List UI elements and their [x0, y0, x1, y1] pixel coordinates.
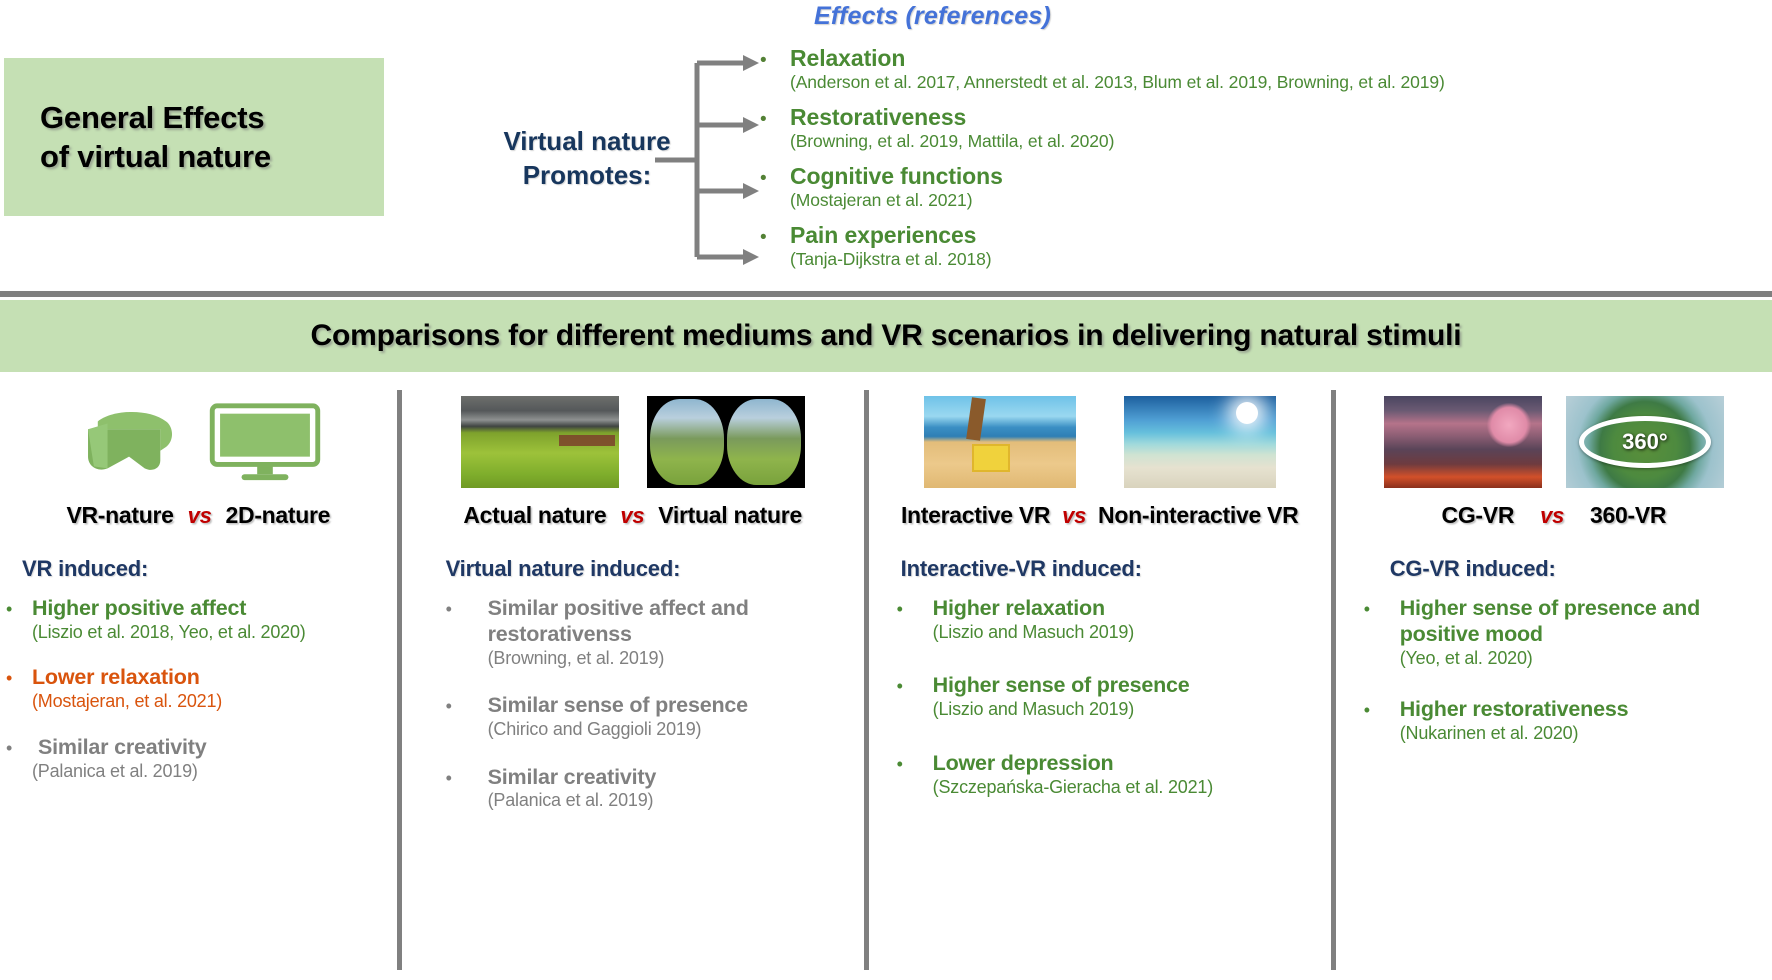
- comparison-column-cgvr-vs-360vr: 360° CG-VR vs 360-VR CG-VR induced: • Hi…: [1336, 378, 1772, 980]
- finding-text: Higher sense of presence and positive mo…: [1390, 596, 1720, 648]
- effect-name: Relaxation: [790, 44, 905, 72]
- bullet-dot-icon: •: [897, 755, 923, 773]
- findings-list: • Higher relaxation (Liszio and Masuch 2…: [869, 596, 1331, 798]
- title-line-2: of virtual nature: [40, 137, 271, 176]
- comparisons-banner: Comparisons for different mediums and VR…: [0, 300, 1772, 372]
- effect-reference: (Tanja-Dijkstra et al. 2018): [790, 249, 1770, 270]
- finding-text: Higher relaxation: [923, 596, 1105, 622]
- stormy-field-photo: [461, 396, 619, 488]
- finding-item: • Higher sense of presence (Liszio and M…: [897, 673, 1331, 720]
- induced-heading: Virtual nature induced:: [402, 556, 864, 582]
- branching-arrows: [655, 55, 765, 265]
- findings-list: • Similar positive affect and restorativ…: [402, 596, 864, 812]
- finding-item: • Similar positive affect and restorativ…: [446, 596, 864, 669]
- vr-goggles-icon: [72, 400, 190, 484]
- finding-reference: (Yeo, et al. 2020): [1400, 648, 1772, 670]
- finding-reference: (Chirico and Gaggioli 2019): [488, 719, 864, 741]
- cg-landscape-render: [1384, 396, 1542, 488]
- effect-item: • Cognitive functions (Mostajeran et al.…: [760, 162, 1770, 211]
- finding-reference: (Nukarinen et al. 2020): [1400, 723, 1772, 745]
- findings-list: • Higher sense of presence and positive …: [1336, 596, 1772, 745]
- vr-stereo-view-photo: [647, 396, 805, 488]
- vs-label: vs: [1062, 503, 1086, 529]
- finding-text: Similar creativity: [32, 735, 207, 761]
- effect-reference: (Browning, et al. 2019, Mattila, et al. …: [790, 131, 1770, 152]
- finding-reference: (Palanica et al. 2019): [32, 761, 397, 783]
- general-effects-title-box: General Effects of virtual nature: [4, 58, 384, 216]
- monitor-icon: [206, 400, 324, 484]
- induced-heading: Interactive-VR induced:: [869, 556, 1331, 582]
- column-labels: Interactive VR vs Non-interactive VR: [869, 502, 1331, 534]
- bullet-dot-icon: •: [446, 769, 472, 787]
- finding-item: • Similar creativity (Palanica et al. 20…: [6, 735, 397, 782]
- finding-item: • Higher sense of presence and positive …: [1364, 596, 1772, 669]
- left-medium-label: VR-nature: [66, 502, 173, 529]
- column-labels: Actual nature vs Virtual nature: [402, 502, 864, 534]
- finding-reference: (Liszio et al. 2018, Yeo, et al. 2020): [32, 622, 397, 644]
- finding-item: • Lower depression (Szczepańska-Gieracha…: [897, 751, 1331, 798]
- finding-reference: (Liszio and Masuch 2019): [933, 622, 1331, 644]
- right-medium-label: 360-VR: [1590, 502, 1666, 529]
- comparison-column-interactive-vs-noninteractive: Interactive VR vs Non-interactive VR Int…: [869, 378, 1331, 980]
- finding-reference: (Palanica et al. 2019): [488, 790, 864, 812]
- section-divider: [0, 291, 1772, 297]
- findings-list: • Higher positive affect (Liszio et al. …: [0, 596, 397, 782]
- title-line-1: General Effects: [40, 98, 264, 137]
- effect-name: Pain experiences: [790, 221, 976, 249]
- finding-text: Similar sense of presence: [472, 693, 748, 719]
- right-medium-label: 2D-nature: [226, 502, 331, 529]
- virtual-nature-summary-figure: General Effects of virtual nature Virtua…: [0, 0, 1772, 980]
- column-labels: CG-VR vs 360-VR: [1336, 502, 1772, 534]
- finding-reference: (Liszio and Masuch 2019): [933, 699, 1331, 721]
- effects-list: • Relaxation (Anderson et al. 2017, Anne…: [760, 44, 1770, 275]
- left-medium-label: Actual nature: [463, 502, 606, 529]
- effect-name: Restorativeness: [790, 103, 966, 131]
- 360-badge-label: 360°: [1622, 429, 1668, 455]
- finding-text: Similar positive affect and restorativen…: [472, 596, 772, 648]
- left-medium-label: CG-VR: [1442, 502, 1515, 529]
- finding-item: • Similar creativity (Palanica et al. 20…: [446, 765, 864, 812]
- column-thumbnails: [402, 394, 864, 490]
- bullet-dot-icon: •: [6, 669, 32, 687]
- effect-reference: (Anderson et al. 2017, Annerstedt et al.…: [790, 72, 1770, 93]
- finding-reference: (Szczepańska-Gieracha et al. 2021): [933, 777, 1331, 799]
- effect-reference: (Mostajeran et al. 2021): [790, 190, 1770, 211]
- finding-text: Lower relaxation: [32, 665, 200, 691]
- induced-heading: CG-VR induced:: [1336, 556, 1772, 582]
- column-labels: VR-nature vs 2D-nature: [0, 502, 397, 534]
- finding-text: Similar creativity: [472, 765, 657, 791]
- bullet-dot-icon: •: [6, 739, 32, 757]
- vs-label: vs: [620, 503, 644, 529]
- bullet-dot-icon: •: [6, 600, 32, 618]
- bullet-dot-icon: •: [1364, 600, 1390, 618]
- vs-label: vs: [1540, 503, 1564, 529]
- finding-item: • Higher restorativeness (Nukarinen et a…: [1364, 697, 1772, 744]
- finding-item: • Higher relaxation (Liszio and Masuch 2…: [897, 596, 1331, 643]
- effects-references-header: Effects (references): [814, 2, 1051, 31]
- beach-game-screenshot: [924, 396, 1076, 488]
- 360-badge: 360°: [1579, 416, 1711, 468]
- finding-text: Higher restorativeness: [1390, 697, 1629, 723]
- finding-item: • Higher positive affect (Liszio et al. …: [6, 596, 397, 643]
- bullet-dot-icon: •: [760, 169, 790, 188]
- effect-name: Cognitive functions: [790, 162, 1003, 190]
- comparisons-banner-text: Comparisons for different mediums and VR…: [311, 319, 1462, 353]
- finding-reference: (Browning, et al. 2019): [488, 648, 864, 670]
- finding-reference: (Mostajeran, et al. 2021): [32, 691, 397, 713]
- panoramic-beach-photo: [1124, 396, 1276, 488]
- bullet-dot-icon: •: [760, 110, 790, 129]
- left-medium-label: Interactive VR: [901, 502, 1050, 529]
- right-medium-label: Virtual nature: [658, 502, 802, 529]
- finding-text: Higher positive affect: [32, 596, 246, 622]
- bullet-dot-icon: •: [446, 697, 472, 715]
- bullet-dot-icon: •: [897, 677, 923, 695]
- finding-item: • Similar sense of presence (Chirico and…: [446, 693, 864, 740]
- bullet-dot-icon: •: [760, 51, 790, 70]
- induced-heading: VR induced:: [0, 556, 397, 582]
- right-medium-label: Non-interactive VR: [1098, 502, 1298, 529]
- bullet-dot-icon: •: [897, 600, 923, 618]
- bullet-dot-icon: •: [1364, 701, 1390, 719]
- general-effects-section: General Effects of virtual nature Virtua…: [0, 0, 1772, 330]
- bullet-dot-icon: •: [446, 600, 472, 618]
- finding-text: Lower depression: [923, 751, 1114, 777]
- finding-text: Higher sense of presence: [923, 673, 1190, 699]
- bullet-dot-icon: •: [760, 228, 790, 247]
- effect-item: • Restorativeness (Browning, et al. 2019…: [760, 103, 1770, 152]
- finding-item: • Lower relaxation (Mostajeran, et al. 2…: [6, 665, 397, 712]
- effect-item: • Pain experiences (Tanja-Dijkstra et al…: [760, 221, 1770, 270]
- column-thumbnails: [0, 394, 397, 490]
- effect-item: • Relaxation (Anderson et al. 2017, Anne…: [760, 44, 1770, 93]
- vs-label: vs: [188, 503, 212, 529]
- column-thumbnails: [869, 394, 1331, 490]
- comparison-columns: VR-nature vs 2D-nature VR induced: • Hig…: [0, 378, 1772, 980]
- column-thumbnails: 360°: [1336, 394, 1772, 490]
- tiny-planet-360-photo: 360°: [1566, 396, 1724, 488]
- comparison-column-actual-vs-virtual: Actual nature vs Virtual nature Virtual …: [402, 378, 864, 980]
- comparison-column-vr-vs-2d: VR-nature vs 2D-nature VR induced: • Hig…: [0, 378, 397, 980]
